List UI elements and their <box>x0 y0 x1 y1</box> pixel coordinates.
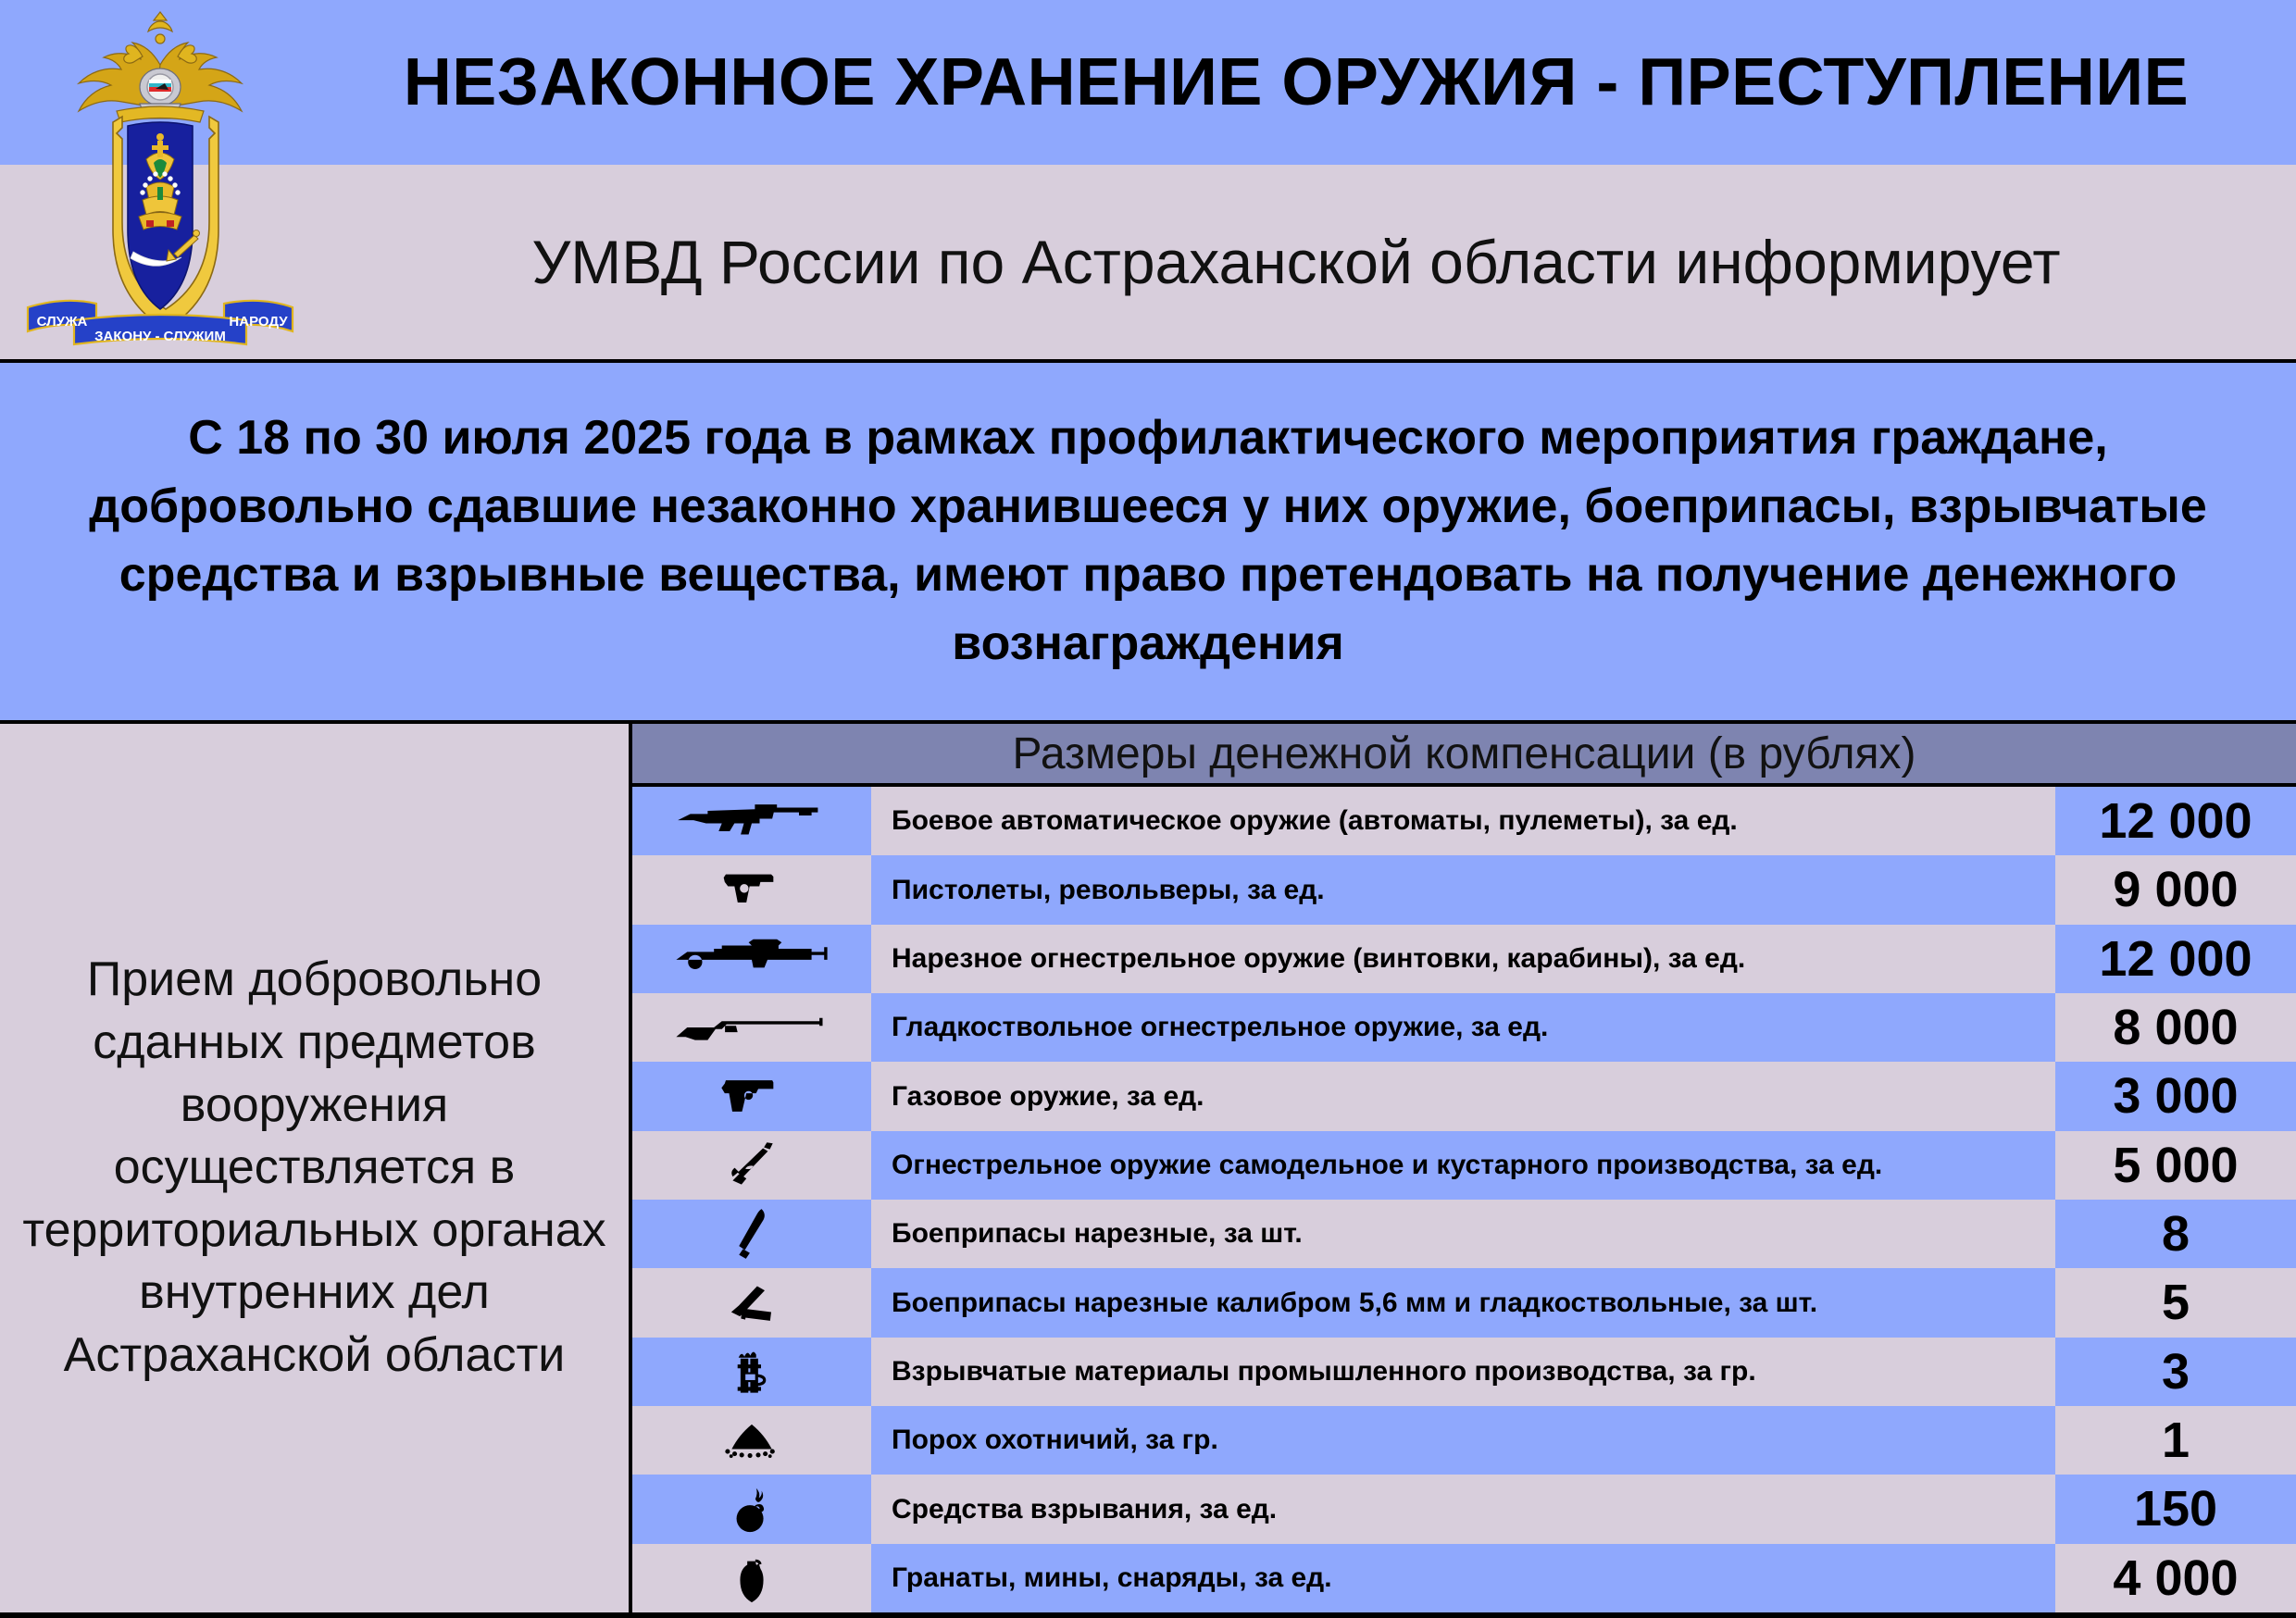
scoped-rifle-icon <box>673 932 830 986</box>
cell-label: Взрывчатые материалы промышленного произ… <box>871 1338 2055 1406</box>
table-row: Боеприпасы нарезные калибром 5,6 мм и гл… <box>632 1268 2296 1337</box>
item-label: Взрывчатые материалы промышленного произ… <box>892 1357 1756 1387</box>
cell-label: Огнестрельное оружие самодельное и куста… <box>871 1131 2055 1200</box>
table-header-bar: Размеры денежной компенсации (в рублях) <box>632 724 2296 787</box>
bomb-fuse-icon <box>719 1482 784 1536</box>
item-amount: 9 000 <box>2113 865 2238 915</box>
sidebar-note-text: Прием добровольно сданных предметов воор… <box>13 949 616 1387</box>
table-row: Огнестрельное оружие самодельное и куста… <box>632 1131 2296 1200</box>
cell-icon <box>632 1544 871 1612</box>
item-label: Боеприпасы нарезные, за шт. <box>892 1219 1303 1249</box>
cell-icon <box>632 1200 871 1268</box>
shotgun-icon <box>673 1001 830 1054</box>
shotgun-shells-icon <box>719 1276 784 1329</box>
cell-label: Гранаты, мины, снаряды, за ед. <box>871 1544 2055 1612</box>
item-label: Боеприпасы нарезные калибром 5,6 мм и гл… <box>892 1288 1817 1318</box>
poster-root: СЛУЖА НАРОДУ ЗАКОНУ - СЛУЖИМ НЕЗАКОННОЕ … <box>0 0 2296 1618</box>
cell-amount: 5 000 <box>2055 1131 2296 1200</box>
cell-icon <box>632 1475 871 1543</box>
item-amount: 12 000 <box>2099 934 2252 984</box>
item-amount: 3 <box>2162 1347 2190 1397</box>
item-label: Боевое автоматическое оружие (автоматы, … <box>892 806 1738 836</box>
item-amount: 3 000 <box>2113 1071 2238 1121</box>
cell-icon <box>632 993 871 1062</box>
cell-amount: 3 <box>2055 1338 2296 1406</box>
table-row: Боевое автоматическое оружие (автоматы, … <box>632 787 2296 855</box>
cell-amount: 9 000 <box>2055 855 2296 924</box>
table-header-label: Размеры денежной компенсации (в рублях) <box>1012 728 1915 779</box>
poster-body: Прием добровольно сданных предметов воор… <box>0 724 2296 1618</box>
assault-rifle-icon <box>673 794 830 848</box>
item-label: Гладкоствольное огнестрельное оружие, за… <box>892 1013 1548 1042</box>
cell-icon <box>632 1131 871 1200</box>
emblem-motto-center: ЗАКОНУ - СЛУЖИМ <box>94 329 226 344</box>
cell-amount: 1 <box>2055 1406 2296 1475</box>
item-amount: 5 000 <box>2113 1140 2238 1190</box>
cell-icon <box>632 1406 871 1475</box>
cell-amount: 12 000 <box>2055 787 2296 855</box>
item-label: Пистолеты, револьверы, за ед. <box>892 876 1325 905</box>
poster-header: СЛУЖА НАРОДУ ЗАКОНУ - СЛУЖИМ НЕЗАКОННОЕ … <box>0 0 2296 359</box>
item-amount: 150 <box>2134 1484 2217 1534</box>
dynamite-icon <box>719 1345 784 1399</box>
cell-label: Газовое оружие, за ед. <box>871 1062 2055 1130</box>
item-label: Нарезное огнестрельное оружие (винтовки,… <box>892 944 1745 974</box>
item-amount: 4 000 <box>2113 1553 2238 1603</box>
item-amount: 8 000 <box>2113 1002 2238 1052</box>
cell-label: Нарезное огнестрельное оружие (винтовки,… <box>871 925 2055 993</box>
cell-icon <box>632 1062 871 1130</box>
table-row: Гранаты, мины, снаряды, за ед.4 000 <box>632 1544 2296 1612</box>
gas-pistol-icon <box>719 1069 784 1123</box>
cell-amount: 4 000 <box>2055 1544 2296 1612</box>
cell-label: Средства взрывания, за ед. <box>871 1475 2055 1543</box>
cell-icon <box>632 855 871 924</box>
bullet-icon <box>719 1207 784 1261</box>
cell-icon <box>632 1338 871 1406</box>
gunpowder-pile-icon <box>719 1413 784 1467</box>
item-amount: 1 <box>2162 1415 2190 1465</box>
table-row: Нарезное огнестрельное оружие (винтовки,… <box>632 925 2296 993</box>
item-amount: 8 <box>2162 1209 2190 1259</box>
sidebar-note: Прием добровольно сданных предметов воор… <box>0 724 632 1612</box>
item-label: Гранаты, мины, снаряды, за ед. <box>892 1563 1332 1593</box>
item-amount: 5 <box>2162 1277 2190 1327</box>
cell-label: Боевое автоматическое оружие (автоматы, … <box>871 787 2055 855</box>
emblem-motto-left: СЛУЖА <box>37 314 88 330</box>
cell-amount: 8 000 <box>2055 993 2296 1062</box>
pistol-icon <box>719 863 784 916</box>
compensation-table: Размеры денежной компенсации (в рублях) … <box>632 724 2296 1612</box>
cell-label: Гладкоствольное огнестрельное оружие, за… <box>871 993 2055 1062</box>
cell-label: Боеприпасы нарезные калибром 5,6 мм и гл… <box>871 1268 2055 1337</box>
grenade-icon <box>719 1551 784 1605</box>
cell-icon <box>632 925 871 993</box>
cell-amount: 12 000 <box>2055 925 2296 993</box>
cell-icon <box>632 787 871 855</box>
cell-amount: 3 000 <box>2055 1062 2296 1130</box>
table-row: Взрывчатые материалы промышленного произ… <box>632 1338 2296 1406</box>
table-row: Боеприпасы нарезные, за шт.8 <box>632 1200 2296 1268</box>
item-label: Порох охотничий, за гр. <box>892 1425 1218 1455</box>
item-label: Газовое оружие, за ед. <box>892 1082 1204 1112</box>
item-amount: 12 000 <box>2099 796 2252 846</box>
item-label: Средства взрывания, за ед. <box>892 1495 1277 1525</box>
cell-label: Пистолеты, револьверы, за ед. <box>871 855 2055 924</box>
table-row: Гладкоствольное огнестрельное оружие, за… <box>632 993 2296 1062</box>
cell-amount: 150 <box>2055 1475 2296 1543</box>
table-row: Средства взрывания, за ед.150 <box>632 1475 2296 1543</box>
cell-label: Порох охотничий, за гр. <box>871 1406 2055 1475</box>
announcement-text: С 18 по 30 июля 2025 года в рамках профи… <box>69 404 2227 678</box>
cell-label: Боеприпасы нарезные, за шт. <box>871 1200 2055 1268</box>
cell-amount: 5 <box>2055 1268 2296 1337</box>
cell-amount: 8 <box>2055 1200 2296 1268</box>
table-row: Порох охотничий, за гр.1 <box>632 1406 2296 1475</box>
mvd-russia-emblem-icon: СЛУЖА НАРОДУ ЗАКОНУ - СЛУЖИМ <box>17 11 304 355</box>
item-label: Огнестрельное оружие самодельное и куста… <box>892 1151 1882 1180</box>
page-subtitle: УМВД России по Астраханской области инфо… <box>306 165 2287 359</box>
table-row: Пистолеты, револьверы, за ед.9 000 <box>632 855 2296 924</box>
page-title: НЕЗАКОННОЕ ХРАНЕНИЕ ОРУЖИЯ - ПРЕСТУПЛЕНИ… <box>306 0 2287 165</box>
announcement-banner: С 18 по 30 июля 2025 года в рамках профи… <box>0 359 2296 724</box>
emblem-motto-right: НАРОДУ <box>229 314 288 330</box>
table-row: Газовое оружие, за ед.3 000 <box>632 1062 2296 1130</box>
sawed-off-gun-icon <box>719 1139 784 1192</box>
cell-icon <box>632 1268 871 1337</box>
table-body: Боевое автоматическое оружие (автоматы, … <box>632 787 2296 1612</box>
